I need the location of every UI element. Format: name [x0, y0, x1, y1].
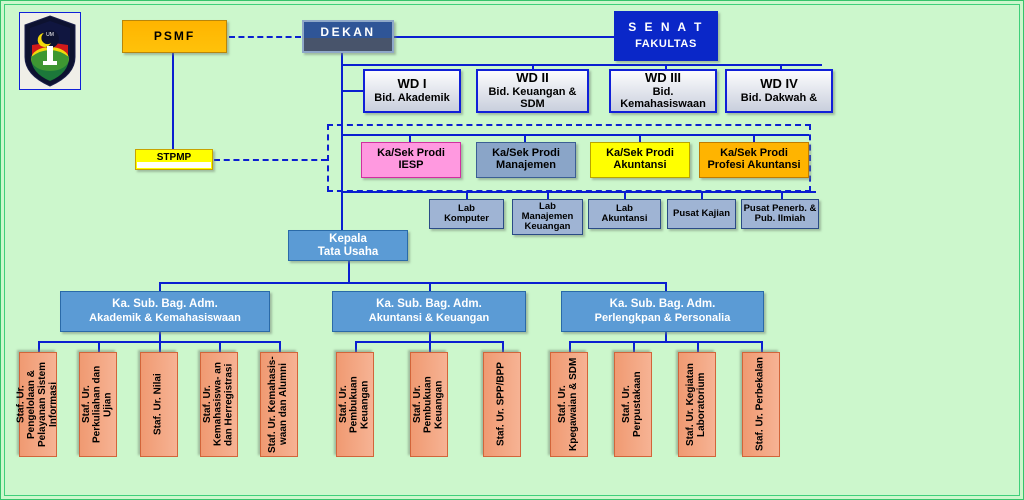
- node-stpmp[interactable]: STPMP: [135, 149, 213, 170]
- connector-wd-bus: [341, 64, 822, 66]
- node-prodi-akuntansi[interactable]: Ka/Sek Prodi Akuntansi: [590, 142, 690, 178]
- staf-b1-label: Staf. Ur. Pembukuan Keuangan: [339, 356, 371, 453]
- unit2-line3: Keuangan: [525, 222, 571, 232]
- node-prodi-manajemen[interactable]: Ka/Sek Prodi Manajemen: [476, 142, 576, 178]
- subbag3-line1: Ka. Sub. Bag. Adm.: [610, 298, 716, 310]
- connector-unit-bus: [341, 191, 816, 193]
- prodi2-line2: Manajemen: [496, 160, 556, 172]
- wd2-title: WD II: [516, 71, 549, 85]
- node-staf-perbekalan[interactable]: Staf. Ur. Perbekalan: [742, 352, 780, 457]
- subbag2-line2: Akuntansi & Keuangan: [369, 313, 489, 325]
- senat-line1: S E N A T: [628, 21, 704, 34]
- wd2-field: Bid. Keuangan & SDM: [478, 87, 587, 111]
- svg-text:UM: UM: [46, 32, 54, 38]
- chart-frame: UM: [4, 4, 1020, 496]
- senat-line2: FAKULTAS: [635, 39, 697, 51]
- node-pusat-penerbitan[interactable]: Pusat Penerb. & Pub. Ilmiah: [741, 199, 819, 229]
- node-staf-kemahasiswaan-herregistrasi[interactable]: Staf. Ur. Kemahasiswa- an dan Herregistr…: [200, 352, 238, 457]
- node-staf-nilai[interactable]: Staf. Ur. Nilai: [140, 352, 178, 457]
- staf-c1-label: Staf. Ur. Kpegawaian & SDM: [558, 356, 580, 453]
- node-staf-perkuliahan-ujian[interactable]: Staf. Ur. Perkuliahan dan Ujian: [79, 352, 117, 457]
- node-staf-perpustakaan[interactable]: Staf. Ur. Perpustakaan: [614, 352, 652, 457]
- node-staf-pengelolaan-informasi[interactable]: Staf. Ur. Pengelolaan & Pelayanan Sistem…: [19, 352, 57, 457]
- staf-c2-label: Staf. Ur. Perpustakaan: [622, 356, 644, 453]
- staf-a1-label: Staf. Ur. Pengelolaan & Pelayanan Sistem…: [16, 356, 59, 453]
- connector-psmf-stpmp: [172, 53, 174, 152]
- stpmp-lower-band: [137, 162, 211, 168]
- unit1-line2: Komputer: [444, 214, 489, 224]
- wd1-title: WD I: [398, 77, 427, 91]
- node-subbag-perlengkapan[interactable]: Ka. Sub. Bag. Adm. Perlengkpan & Persona…: [561, 291, 764, 332]
- connector-subbag-bus: [159, 282, 667, 284]
- node-prodi-profesi-akuntansi[interactable]: Ka/Sek Prodi Profesi Akuntansi: [699, 142, 809, 178]
- node-subbag-akademik[interactable]: Ka. Sub. Bag. Adm. Akademik & Kemahasisw…: [60, 291, 270, 332]
- subbag1-line1: Ka. Sub. Bag. Adm.: [112, 298, 218, 310]
- unit4-line1: Pusat Kajian: [673, 209, 730, 219]
- subbag1-line2: Akademik & Kemahasiswaan: [89, 313, 241, 325]
- node-wd-2[interactable]: WD II Bid. Keuangan & SDM: [476, 69, 589, 113]
- prodi3-line2: Akuntansi: [613, 160, 666, 172]
- node-staf-kegiatan-laboratorium[interactable]: Staf. Ur. Kegiatan Laboratorium: [678, 352, 716, 457]
- node-kepala-tata-usaha[interactable]: Kepala Tata Usaha: [288, 230, 408, 261]
- connector-prodi-bus: [341, 134, 809, 136]
- dekan-lower-band: [304, 38, 392, 51]
- subbag2-line1: Ka. Sub. Bag. Adm.: [376, 298, 482, 310]
- staf-a4-label: Staf. Ur. Kemahasiswa- an dan Herregistr…: [203, 356, 235, 453]
- staf-c3-label: Staf. Ur. Kegiatan Laboratorium: [686, 356, 708, 453]
- node-subbag-akuntansi[interactable]: Ka. Sub. Bag. Adm. Akuntansi & Keuangan: [332, 291, 526, 332]
- staf-c4-label: Staf. Ur. Perbekalan: [756, 358, 767, 452]
- node-dekan[interactable]: DEKAN: [302, 20, 394, 53]
- node-staf-kemahasiswaan-alumni[interactable]: Staf. Ur. Kemahasis- waan dan Alumni: [260, 352, 298, 457]
- node-staf-pembukuan-keuangan-2[interactable]: Staf. Ur. Pembukuan Keuangan: [410, 352, 448, 457]
- connector-dekan-wd1: [341, 90, 364, 92]
- dekan-label: DEKAN: [320, 26, 375, 39]
- connector-ktu-drop: [348, 260, 350, 283]
- connector-dekan-senat: [394, 36, 616, 38]
- node-lab-komputer[interactable]: Lab Komputer: [429, 199, 504, 229]
- wd3-title: WD III: [645, 71, 681, 85]
- node-lab-akuntansi[interactable]: Lab Akuntansi: [588, 199, 661, 229]
- wd4-title: WD IV: [760, 77, 798, 91]
- node-staf-pembukuan-keuangan-1[interactable]: Staf. Ur. Pembukuan Keuangan: [336, 352, 374, 457]
- unit3-line2: Akuntansi: [602, 214, 648, 224]
- ktu-line2: Tata Usaha: [318, 246, 379, 258]
- staf-b3-label: Staf. Ur. SPP/BPP: [497, 363, 508, 447]
- staf-b2-label: Staf. Ur. Pembukuan Keuangan: [413, 356, 445, 453]
- psmf-label: PSMF: [154, 30, 195, 43]
- org-chart-canvas: UM: [0, 0, 1024, 500]
- staf-a2-label: Staf. Ur. Perkuliahan dan Ujian: [82, 356, 114, 453]
- prodi4-line2: Profesi Akuntansi: [707, 160, 800, 172]
- node-wd-3[interactable]: WD III Bid. Kemahasiswaan: [609, 69, 717, 113]
- node-lab-manajemen-keuangan[interactable]: Lab Manajemen Keuangan: [512, 199, 583, 235]
- node-staf-kepegawaian-sdm[interactable]: Staf. Ur. Kpegawaian & SDM: [550, 352, 588, 457]
- connector-stpmp-dashed: [214, 159, 327, 161]
- node-wd-4[interactable]: WD IV Bid. Dakwah &: [725, 69, 833, 113]
- connector-dekan-trunk: [341, 53, 343, 249]
- connector-psmf-dekan-dashed: [229, 36, 301, 38]
- node-senat-fakultas[interactable]: S E N A T FAKULTAS: [614, 11, 718, 61]
- subbag3-line2: Perlengkpan & Personalia: [595, 313, 731, 325]
- ktu-line1: Kepala: [329, 233, 367, 245]
- node-staf-spp-bpp[interactable]: Staf. Ur. SPP/BPP: [483, 352, 521, 457]
- unit5-line2: Pub. Ilmiah: [755, 214, 806, 224]
- wd1-field: Bid. Akademik: [374, 93, 449, 105]
- wd3-field: Bid. Kemahasiswaan: [611, 87, 715, 111]
- connector-g3-bus: [569, 341, 761, 343]
- university-shield-logo: UM: [19, 12, 81, 90]
- prodi1-line2: IESP: [398, 160, 423, 172]
- node-wd-1[interactable]: WD I Bid. Akademik: [363, 69, 461, 113]
- staf-a3-label: Staf. Ur. Nilai: [154, 374, 165, 436]
- node-prodi-iesp[interactable]: Ka/Sek Prodi IESP: [361, 142, 461, 178]
- wd4-field: Bid. Dakwah &: [741, 93, 817, 105]
- node-pusat-kajian[interactable]: Pusat Kajian: [667, 199, 736, 229]
- node-psmf[interactable]: PSMF: [122, 20, 227, 53]
- staf-a5-label: Staf. Ur. Kemahasis- waan dan Alumni: [268, 356, 290, 453]
